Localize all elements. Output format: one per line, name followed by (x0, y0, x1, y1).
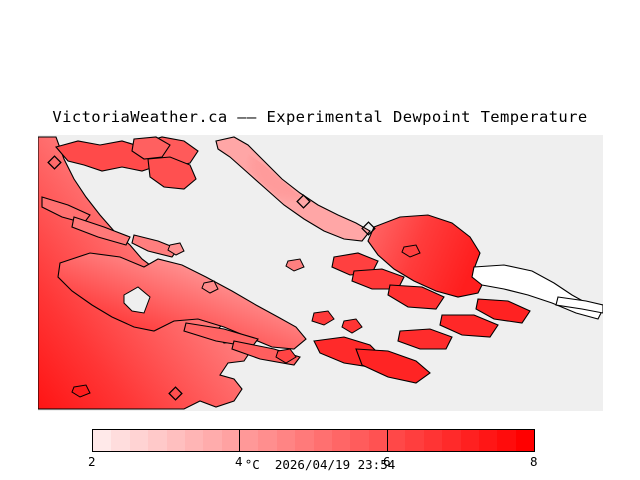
colorbar-swatch-9 (258, 430, 276, 451)
colorbar-swatch-14 (350, 430, 368, 451)
colorbar-swatch-20 (461, 430, 479, 451)
colorbar-swatch-12 (314, 430, 332, 451)
colorbar-swatch-1 (111, 430, 129, 451)
colorbar-swatch-13 (332, 430, 350, 451)
colorbar-footer-label: °C 2026/04/19 23:54 (0, 457, 640, 472)
colorbar-swatch-23 (516, 430, 534, 451)
colorbar[interactable]: 2 4 6 8 (92, 429, 535, 452)
colorbar-swatch-21 (479, 430, 497, 451)
colorbar-gradient (92, 429, 535, 452)
colorbar-swatch-19 (442, 430, 460, 451)
colorbar-swatch-17 (405, 430, 423, 451)
weather-map-page: VictoriaWeather.ca —— Experimental Dewpo… (0, 0, 640, 480)
colorbar-swatch-7 (222, 430, 240, 451)
colorbar-swatch-0 (93, 430, 111, 451)
map-plot-area[interactable] (38, 135, 603, 411)
colorbar-swatch-22 (497, 430, 515, 451)
colorbar-swatch-8 (240, 430, 258, 451)
colorbar-swatch-10 (277, 430, 295, 451)
colorbar-swatch-6 (203, 430, 221, 451)
colorbar-swatch-16 (387, 430, 405, 451)
colorbar-swatch-15 (369, 430, 387, 451)
colorbar-tick-6 (387, 429, 388, 452)
colorbar-swatch-11 (295, 430, 313, 451)
colorbar-swatch-5 (185, 430, 203, 451)
colorbar-swatch-4 (167, 430, 185, 451)
colorbar-swatch-2 (130, 430, 148, 451)
page-title: VictoriaWeather.ca —— Experimental Dewpo… (0, 108, 640, 126)
map-svg (38, 135, 603, 411)
colorbar-swatch-18 (424, 430, 442, 451)
colorbar-tick-4 (239, 429, 240, 452)
colorbar-swatch-3 (148, 430, 166, 451)
